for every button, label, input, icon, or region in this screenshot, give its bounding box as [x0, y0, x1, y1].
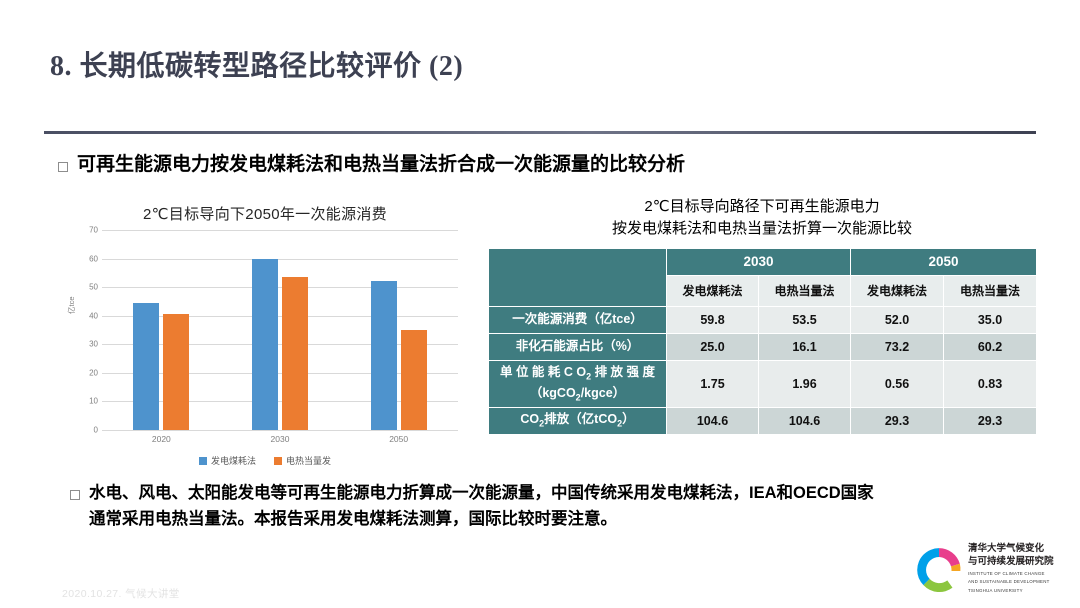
chart-legend-swatch	[199, 457, 207, 465]
chart-plot: 亿tce 010203040506070 202020302050 发电煤耗法电…	[70, 230, 460, 430]
chart-y-tick-label: 10	[76, 397, 98, 406]
chart-y-tick-label: 70	[76, 226, 98, 235]
table-header-year-row: 2030 2050	[489, 248, 1037, 275]
table-year-2030: 2030	[667, 248, 851, 275]
logo-cn-line1: 清华大学气候变化	[968, 543, 1054, 556]
table-cell: 25.0	[667, 333, 759, 360]
row-label-seg: （kgCO	[530, 386, 576, 400]
chart-bar	[163, 314, 189, 430]
row-label-seg: CO	[520, 412, 539, 426]
chart-y-tick-label: 30	[76, 340, 98, 349]
table-method-2030-coal: 发电煤耗法	[667, 275, 759, 306]
logo-en-line2: AND SUSTAINABLE DEVELOPMENT	[968, 579, 1054, 586]
chart-legend-swatch	[274, 457, 282, 465]
chart-bar	[133, 303, 159, 430]
table-cell: 29.3	[851, 407, 944, 434]
logo-en-line1: INSTITUTE OF CLIMATE CHANGE	[968, 571, 1054, 578]
table-year-2050: 2050	[851, 248, 1037, 275]
bullet-body-line1: 水电、风电、太阳能发电等可再生能源电力折算成一次能源量，中国传统采用发电煤耗法，…	[89, 484, 874, 502]
table-cell: 73.2	[851, 333, 944, 360]
chart-bars-area	[102, 230, 458, 430]
page-title: 8. 长期低碳转型路径比较评价 (2)	[50, 44, 463, 84]
chart-title: 2℃目标导向下2050年一次能源消费	[70, 203, 460, 224]
table-cell: 0.56	[851, 360, 944, 407]
chart-legend-item: 发电煤耗法	[199, 454, 256, 467]
bullet-body-line2: 通常采用电热当量法。本报告采用发电煤耗法测算，国际比较时要注意。	[89, 510, 617, 528]
chart-x-tick-label: 2020	[152, 434, 171, 444]
chart-y-tick-label: 20	[76, 368, 98, 377]
row-label-seg: 单 位 能 耗 C O	[500, 365, 586, 379]
table-row: 非化石能源占比（%） 25.0 16.1 73.2 60.2	[489, 333, 1037, 360]
primary-energy-bar-chart: 2℃目标导向下2050年一次能源消费 亿tce 010203040506070 …	[70, 203, 460, 473]
chart-bar-group	[221, 230, 340, 430]
comparison-table-block: 2℃目标导向路径下可再生能源电力 按发电煤耗法和电热当量法折算一次能源比较 20…	[488, 196, 1036, 435]
comparison-table: 2030 2050 发电煤耗法 电热当量法 发电煤耗法 电热当量法 一次能源消费…	[488, 248, 1037, 435]
table-cell: 29.3	[944, 407, 1037, 434]
logo-text: 清华大学气候变化 与可持续发展研究院 INSTITUTE OF CLIMATE …	[968, 543, 1054, 594]
footer-note: 2020.10.27. 气候大讲堂	[62, 586, 180, 601]
logo-cn-line2: 与可持续发展研究院	[968, 556, 1054, 569]
chart-y-tick-label: 60	[76, 254, 98, 263]
bullet-square-icon	[58, 162, 68, 172]
table-title-line2: 按发电煤耗法和电热当量法折算一次能源比较	[488, 218, 1036, 240]
bullet-body: 水电、风电、太阳能发电等可再生能源电力折算成一次能源量，中国传统采用发电煤耗法，…	[70, 481, 1030, 532]
chart-legend-item: 电热当量发	[274, 454, 331, 467]
institute-logo: 清华大学气候变化 与可持续发展研究院 INSTITUTE OF CLIMATE …	[912, 540, 1072, 600]
bullet-square-icon	[70, 490, 80, 500]
chart-x-tick-label: 2030	[271, 434, 290, 444]
table-method-2050-coal: 发电煤耗法	[851, 275, 944, 306]
table-row-label: 非化石能源占比（%）	[489, 333, 667, 360]
row-label-seg: ）	[622, 412, 635, 426]
row-label-seg: 排放（亿tCO	[544, 412, 617, 426]
table-cell: 59.8	[667, 306, 759, 333]
row-label-seg: /kgce）	[581, 386, 625, 400]
table-title: 2℃目标导向路径下可再生能源电力 按发电煤耗法和电热当量法折算一次能源比较	[488, 196, 1036, 240]
table-cell: 52.0	[851, 306, 944, 333]
bullet-heading-label: 可再生能源电力按发电煤耗法和电热当量法折合成一次能源量的比较分析	[77, 153, 685, 178]
climate-c-swirl-icon	[912, 544, 964, 596]
chart-legend: 发电煤耗法电热当量发	[70, 454, 460, 467]
chart-y-tick-label: 0	[76, 426, 98, 435]
table-cell: 53.5	[759, 306, 851, 333]
table-title-line1: 2℃目标导向路径下可再生能源电力	[488, 196, 1036, 218]
chart-bar	[371, 281, 397, 430]
table-method-2050-heat: 电热当量法	[944, 275, 1037, 306]
title-divider	[44, 131, 1036, 134]
chart-bar	[401, 330, 427, 430]
table-cell: 104.6	[667, 407, 759, 434]
table-row: CO2排放（亿tCO2） 104.6 104.6 29.3 29.3	[489, 407, 1037, 434]
table-cell: 1.96	[759, 360, 851, 407]
chart-gridline	[102, 430, 458, 431]
table-cell: 35.0	[944, 306, 1037, 333]
chart-legend-label: 电热当量发	[286, 454, 331, 467]
table-cell: 1.75	[667, 360, 759, 407]
chart-y-tick-label: 40	[76, 311, 98, 320]
table-cell: 60.2	[944, 333, 1037, 360]
slide-root: 8. 长期低碳转型路径比较评价 (2) 可再生能源电力按发电煤耗法和电热当量法折…	[0, 0, 1080, 608]
chart-bar	[252, 259, 278, 430]
bullet-heading: 可再生能源电力按发电煤耗法和电热当量法折合成一次能源量的比较分析	[58, 153, 685, 178]
chart-bar	[282, 277, 308, 430]
bullet-body-label: 水电、风电、太阳能发电等可再生能源电力折算成一次能源量，中国传统采用发电煤耗法，…	[89, 481, 874, 532]
chart-bar-group	[102, 230, 221, 430]
chart-bar-group	[339, 230, 458, 430]
chart-y-tick-label: 50	[76, 283, 98, 292]
table-cell: 16.1	[759, 333, 851, 360]
table-cell: 104.6	[759, 407, 851, 434]
table-row-label: 一次能源消费（亿tce）	[489, 306, 667, 333]
table-row: 一次能源消费（亿tce） 59.8 53.5 52.0 35.0	[489, 306, 1037, 333]
row-label-seg: 排 放 强 度	[591, 365, 655, 379]
table-corner-cell	[489, 248, 667, 306]
table-row-label: CO2排放（亿tCO2）	[489, 407, 667, 434]
table-method-2030-heat: 电热当量法	[759, 275, 851, 306]
chart-x-tick-label: 2050	[389, 434, 408, 444]
table-cell: 0.83	[944, 360, 1037, 407]
logo-en-line3: TSINGHUA UNIVERSITY	[968, 588, 1054, 595]
table-row-label: 单 位 能 耗 C O2 排 放 强 度 （kgCO2/kgce）	[489, 360, 667, 407]
chart-legend-label: 发电煤耗法	[211, 454, 256, 467]
table-row: 单 位 能 耗 C O2 排 放 强 度 （kgCO2/kgce） 1.75 1…	[489, 360, 1037, 407]
